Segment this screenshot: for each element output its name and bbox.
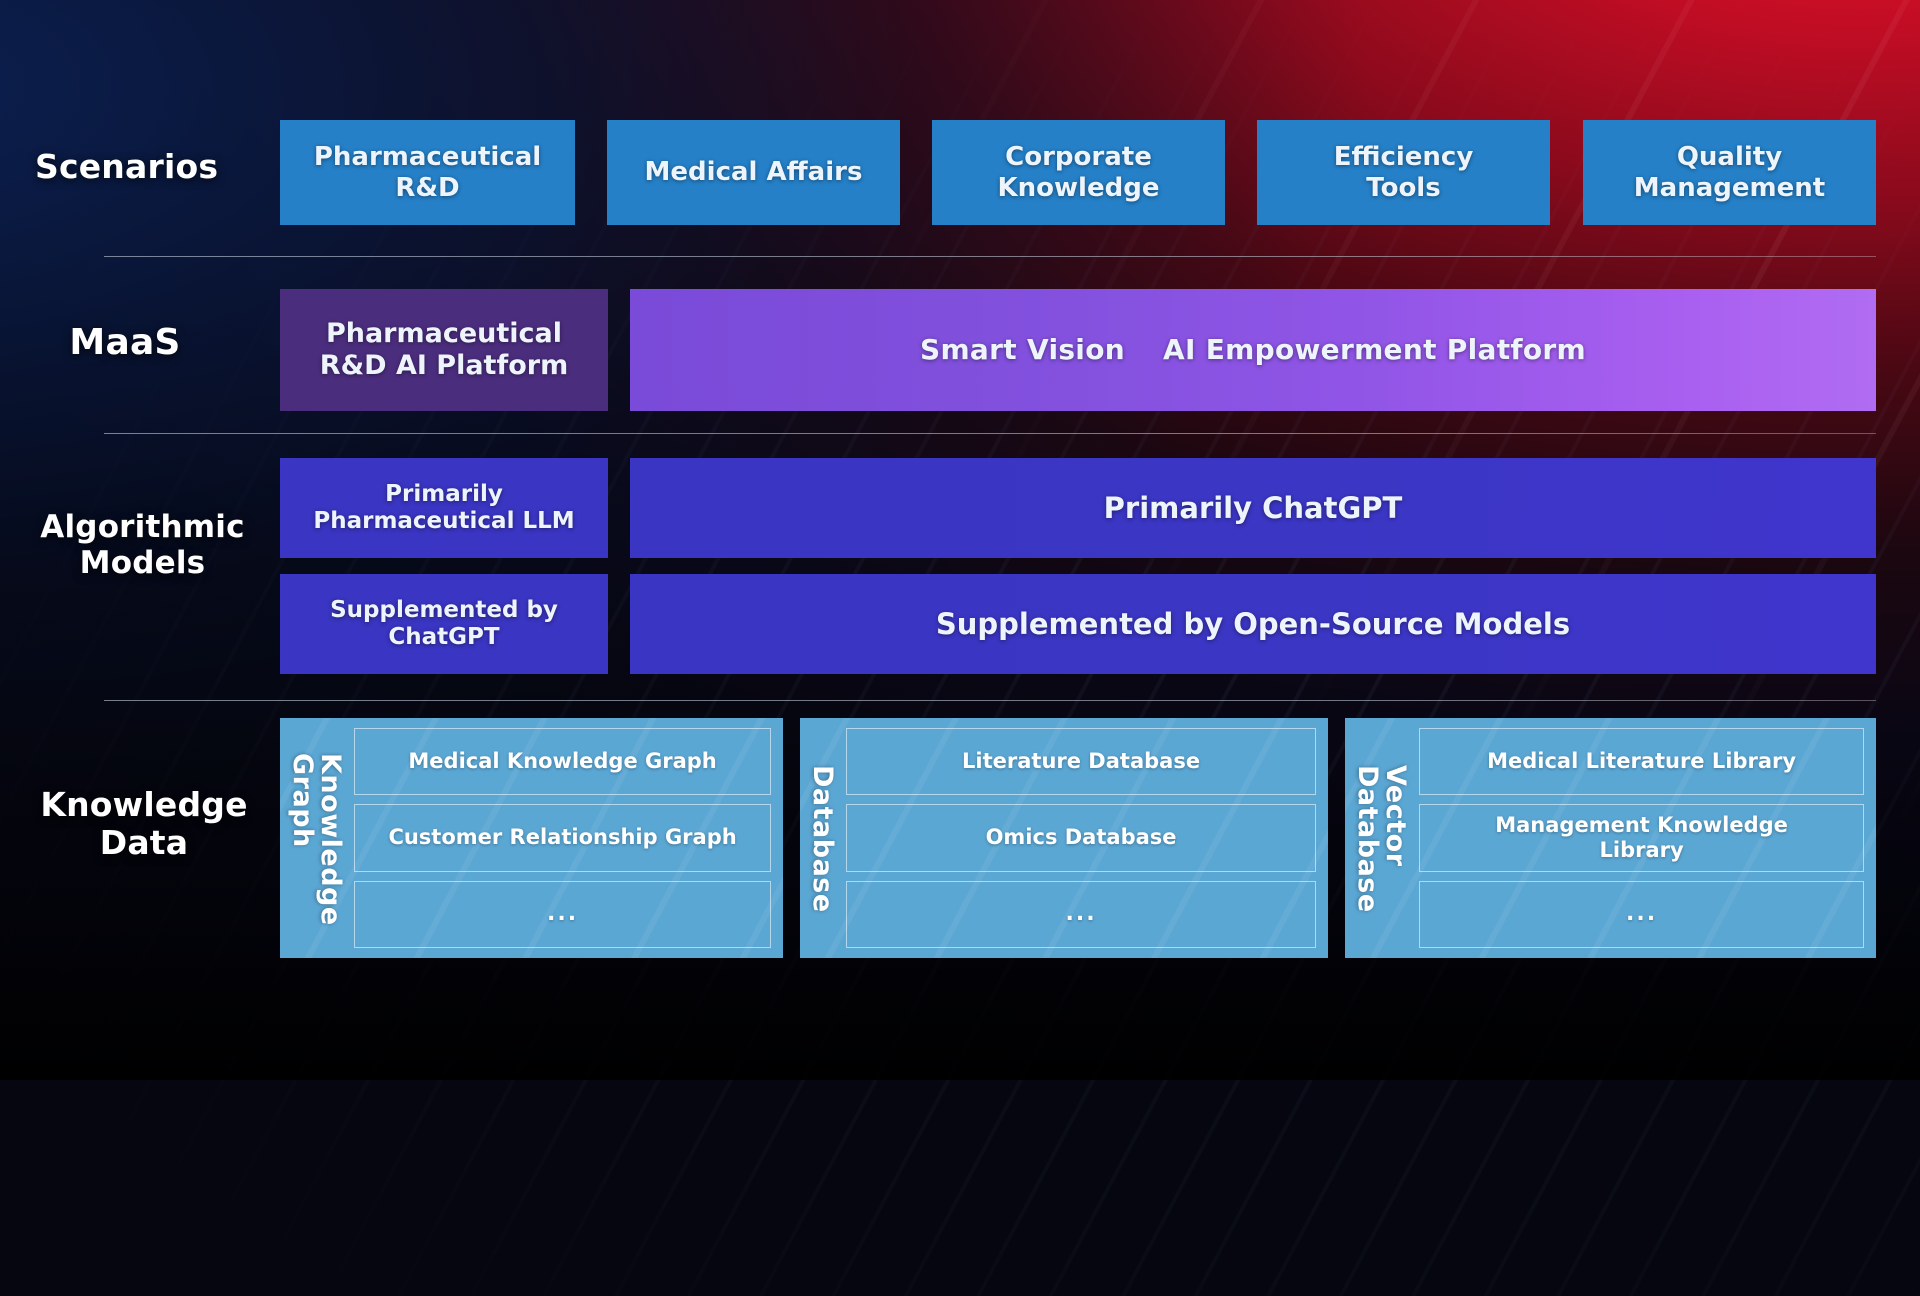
knowledge-graph-item-customer-relationship-graph[interactable]: Customer Relationship Graph bbox=[354, 804, 771, 871]
divider-algorithmic-knowledge bbox=[104, 700, 1876, 701]
maas-platform-banner[interactable]: Smart Vision AI Empowerment Platform bbox=[630, 289, 1876, 411]
scenario-box-efficiency-tools[interactable]: Efficiency Tools bbox=[1257, 120, 1550, 225]
vector-database-item-list: Medical Literature Library Management Kn… bbox=[1419, 728, 1864, 948]
algo-box-primarily-pharmaceutical-llm[interactable]: Primarily Pharmaceutical LLM bbox=[280, 458, 608, 558]
scenario-box-medical-affairs[interactable]: Medical Affairs bbox=[607, 120, 900, 225]
knowledge-group-database[interactable]: Database Literature Database Omics Datab… bbox=[800, 718, 1328, 958]
algo-box-supplemented-by-open-source-models[interactable]: Supplemented by Open-Source Models bbox=[630, 574, 1876, 674]
database-item-more[interactable]: ... bbox=[846, 881, 1316, 948]
knowledge-graph-item-medical-knowledge-graph[interactable]: Medical Knowledge Graph bbox=[354, 728, 771, 795]
scenario-box-quality-management[interactable]: Quality Management bbox=[1583, 120, 1876, 225]
database-item-list: Literature Database Omics Database ... bbox=[846, 728, 1316, 948]
vector-database-vertical-label: Vector Database bbox=[1353, 728, 1409, 948]
vector-database-item-management-knowledge-library[interactable]: Management Knowledge Library bbox=[1419, 804, 1864, 871]
row-label-scenarios: Scenarios bbox=[35, 148, 215, 186]
maas-banner-ai-empowerment-platform: AI Empowerment Platform bbox=[1163, 333, 1586, 366]
maas-pharmaceutical-rd-ai-platform[interactable]: Pharmaceutical R&D AI Platform bbox=[280, 289, 608, 411]
knowledge-group-vector-database[interactable]: Vector Database Medical Literature Libra… bbox=[1345, 718, 1876, 958]
database-item-omics-database[interactable]: Omics Database bbox=[846, 804, 1316, 871]
algo-box-primarily-chatgpt[interactable]: Primarily ChatGPT bbox=[630, 458, 1876, 558]
architecture-diagram: Scenarios Pharmaceutical R&D Medical Aff… bbox=[0, 0, 1920, 1080]
scenario-box-pharmaceutical-rd[interactable]: Pharmaceutical R&D bbox=[280, 120, 575, 225]
algo-box-supplemented-by-chatgpt[interactable]: Supplemented by ChatGPT bbox=[280, 574, 608, 674]
row-label-algorithmic-models: Algorithmic Models bbox=[35, 510, 250, 582]
knowledge-graph-item-more[interactable]: ... bbox=[354, 881, 771, 948]
knowledge-graph-vertical-label: Knowledge Graph bbox=[288, 728, 344, 948]
row-label-maas: MaaS bbox=[35, 322, 215, 364]
vector-database-item-more[interactable]: ... bbox=[1419, 881, 1864, 948]
divider-scenarios-maas bbox=[104, 256, 1876, 257]
scenario-box-corporate-knowledge[interactable]: Corporate Knowledge bbox=[932, 120, 1225, 225]
knowledge-graph-item-list: Medical Knowledge Graph Customer Relatio… bbox=[354, 728, 771, 948]
knowledge-group-knowledge-graph[interactable]: Knowledge Graph Medical Knowledge Graph … bbox=[280, 718, 783, 958]
database-vertical-label: Database bbox=[808, 728, 836, 948]
database-item-literature-database[interactable]: Literature Database bbox=[846, 728, 1316, 795]
maas-banner-smart-vision: Smart Vision bbox=[920, 333, 1125, 366]
vector-database-item-medical-literature-library[interactable]: Medical Literature Library bbox=[1419, 728, 1864, 795]
row-label-knowledge-data: Knowledge Data bbox=[35, 786, 253, 863]
divider-maas-algorithmic bbox=[104, 433, 1876, 434]
